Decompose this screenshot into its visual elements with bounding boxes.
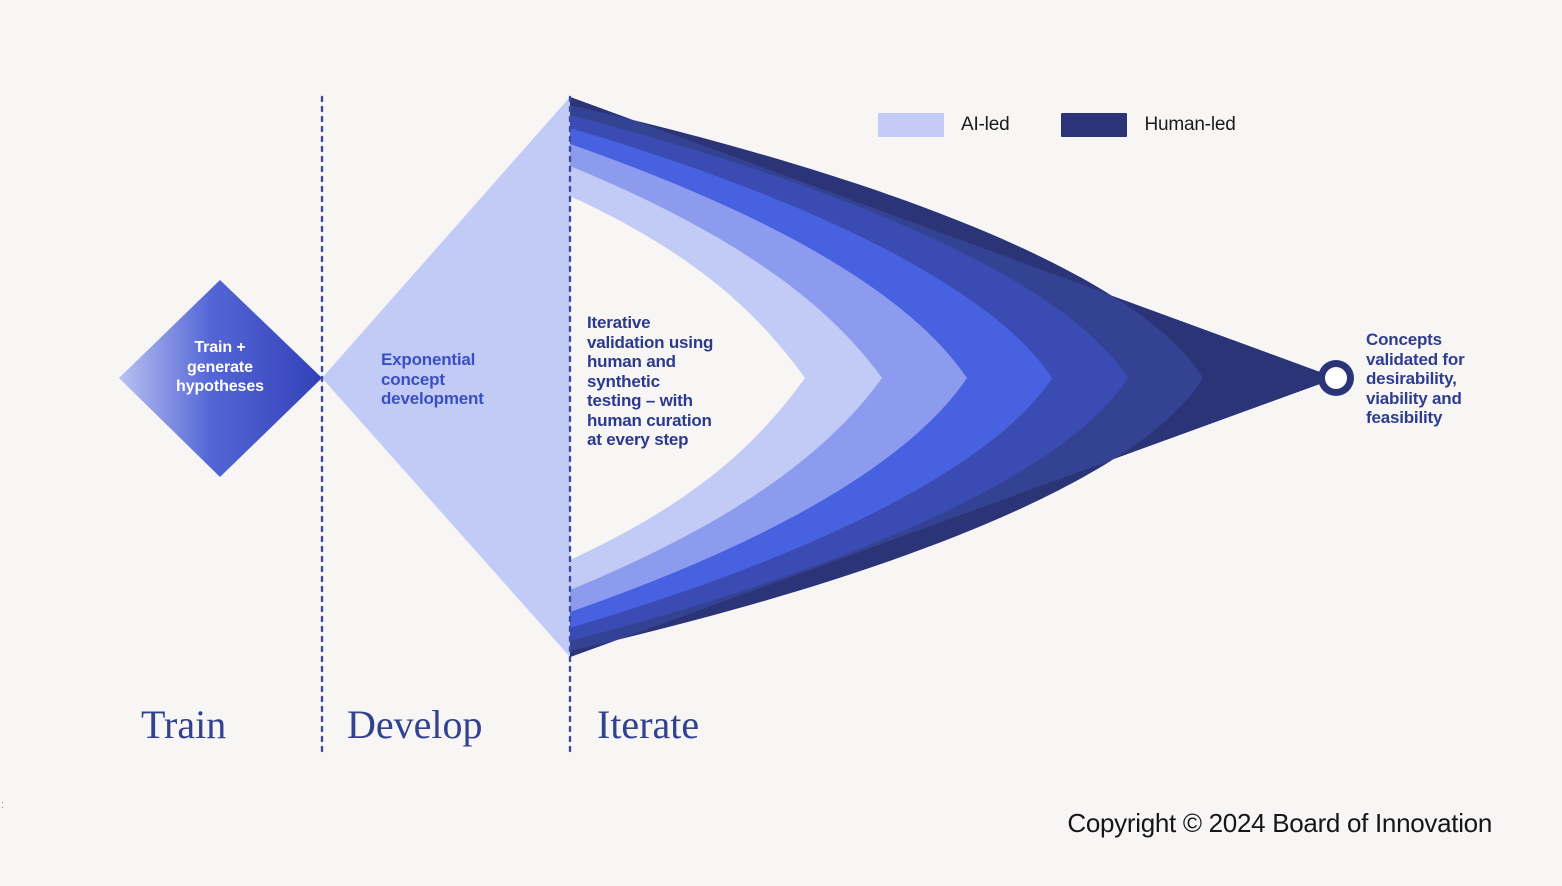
funnel-diagram-svg [0,0,1562,886]
legend-item-human-led[interactable]: Human-led [1061,113,1235,137]
legend-swatch-ai-led [878,113,944,137]
endpoint-circle-fill [1325,367,1347,389]
outcome-label: Concepts validated for desirability, via… [1366,330,1526,428]
legend-label-ai-led: AI-led [961,114,1009,136]
stage-name-train: Train [141,701,226,748]
legend-label-human-led: Human-led [1144,114,1235,136]
copyright-text: Copyright © 2024 Board of Innovation [1067,808,1492,839]
develop-stage-label: Exponential concept development [381,350,551,409]
legend-swatch-human-led [1061,113,1127,137]
diagram-canvas: Train + generate hypotheses Exponential … [0,0,1562,886]
stage-name-develop: Develop [347,701,483,748]
corner-mark: : [1,800,4,811]
legend-item-ai-led[interactable]: AI-led [878,113,1009,137]
legend: AI-led Human-led [878,113,1236,137]
iterate-stage-label: Iterative validation using human and syn… [587,313,747,450]
train-diamond-label: Train + generate hypotheses [150,338,290,397]
endpoint-circle-marker [1318,360,1354,396]
stage-name-iterate: Iterate [597,701,699,748]
